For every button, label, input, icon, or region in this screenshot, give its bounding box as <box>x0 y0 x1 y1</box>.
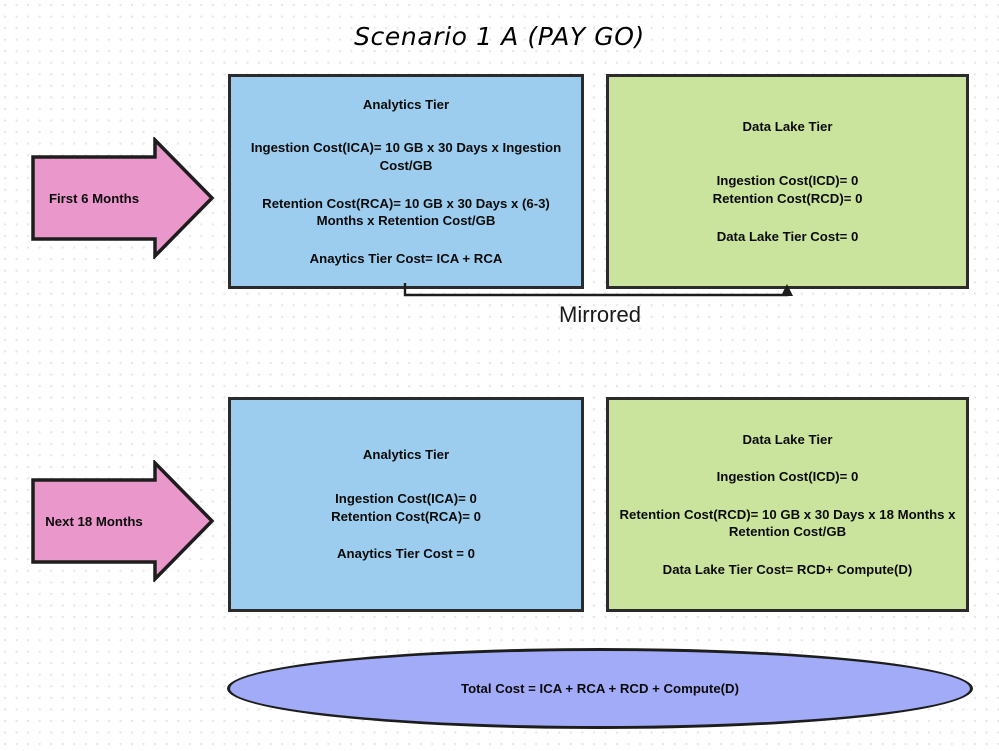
data-lake-tier-box-phase-2[interactable]: Data Lake Tier Ingestion Cost(ICD)= 0 Re… <box>606 397 969 612</box>
analytics-tier-cost-total: Anaytics Tier Cost= ICA + RCA <box>241 250 571 268</box>
analytics-tier-box-phase-2[interactable]: Analytics Tier Ingestion Cost(ICA)= 0 Re… <box>228 397 584 612</box>
analytics-tier-heading: Analytics Tier <box>241 96 571 114</box>
phase-arrow-first-6-months[interactable]: First 6 Months <box>30 137 215 259</box>
data-lake-ingestion-cost: Ingestion Cost(ICD)= 0 <box>619 172 956 190</box>
data-lake-tier-cost-total: Data Lake Tier Cost= RCD+ Compute(D) <box>619 561 956 579</box>
data-lake-tier-heading: Data Lake Tier <box>619 431 956 449</box>
analytics-tier-heading: Analytics Tier <box>241 446 571 464</box>
phase-arrow-label: Next 18 Months <box>30 460 158 582</box>
data-lake-ingestion-cost: Ingestion Cost(ICD)= 0 <box>619 468 956 486</box>
analytics-retention-cost: Retention Cost(RCA)= 0 <box>241 508 571 526</box>
analytics-ingestion-cost: Ingestion Cost(ICA)= 0 <box>241 490 571 508</box>
data-lake-retention-cost: Retention Cost(RCD)= 10 GB x 30 Days x 1… <box>619 506 956 541</box>
analytics-ingestion-cost: Ingestion Cost(ICA)= 10 GB x 30 Days x I… <box>241 139 571 174</box>
phase-arrow-label: First 6 Months <box>30 137 158 259</box>
data-lake-tier-heading: Data Lake Tier <box>619 118 956 136</box>
data-lake-tier-cost-total: Data Lake Tier Cost= 0 <box>619 228 956 246</box>
analytics-retention-cost: Retention Cost(RCA)= 10 GB x 30 Days x (… <box>241 195 571 230</box>
data-lake-retention-cost: Retention Cost(RCD)= 0 <box>619 190 956 208</box>
total-cost-label: Total Cost = ICA + RCA + RCD + Compute(D… <box>461 681 739 696</box>
analytics-tier-cost-total: Anaytics Tier Cost = 0 <box>241 545 571 563</box>
page-title: Scenario 1 A (PAY GO) <box>0 22 999 51</box>
diagram-canvas: Scenario 1 A (PAY GO) First 6 Months Ana… <box>0 0 999 751</box>
mirrored-label: Mirrored <box>480 302 720 328</box>
analytics-tier-box-phase-1[interactable]: Analytics Tier Ingestion Cost(ICA)= 10 G… <box>228 74 584 289</box>
data-lake-tier-box-phase-1[interactable]: Data Lake Tier Ingestion Cost(ICD)= 0 Re… <box>606 74 969 289</box>
phase-arrow-next-18-months[interactable]: Next 18 Months <box>30 460 215 582</box>
total-cost-ellipse[interactable]: Total Cost = ICA + RCA + RCD + Compute(D… <box>227 648 973 729</box>
